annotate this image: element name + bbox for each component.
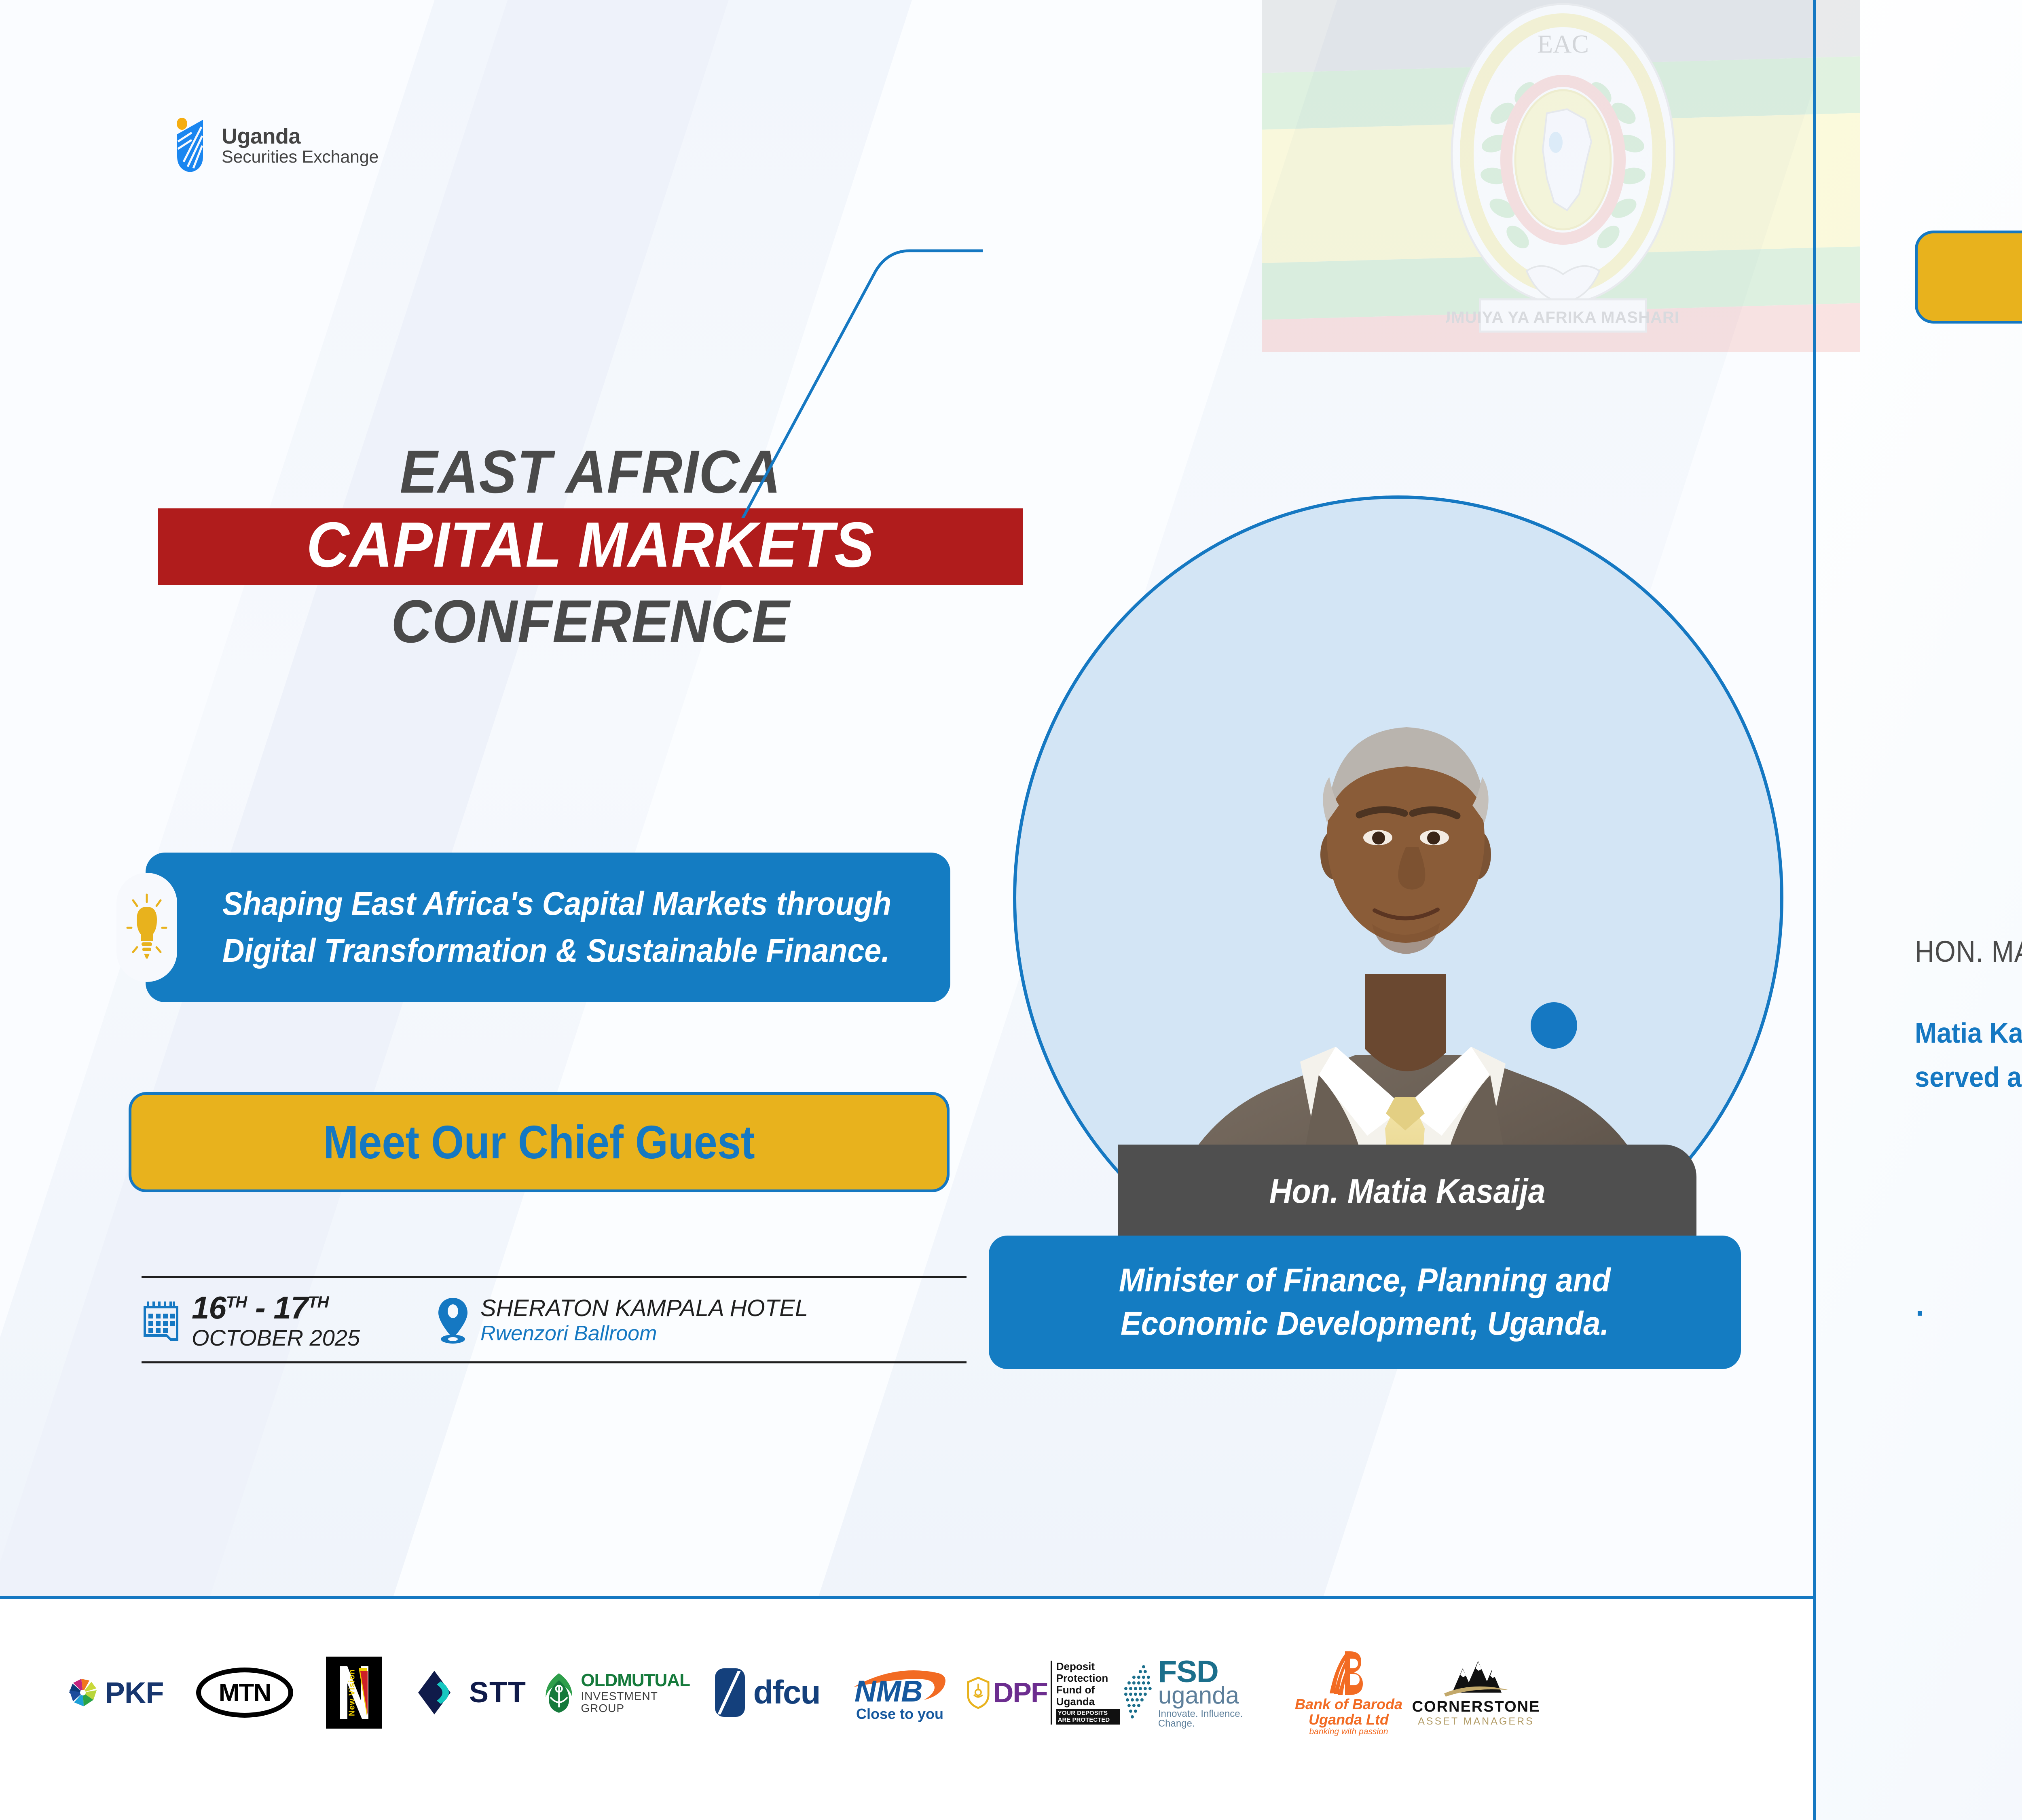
sponsor-logo-old-mutual: OLDMUTUAL INVESTMENT GROUP — [542, 1671, 700, 1714]
nmb-swoosh-icon: NMB — [847, 1663, 952, 1708]
sponsor-sublabel-2: YOUR DEPOSITS ARE PROTECTED — [1056, 1709, 1120, 1725]
chief-guest-role-line2: Economic Development, Uganda. — [1121, 1305, 1609, 1342]
sponsor-label: PKF — [105, 1676, 164, 1710]
sponsor-sublabel-2: banking with passion — [1295, 1727, 1402, 1736]
tagline-line-1: Shaping East Africa's Capital Markets th… — [222, 880, 891, 927]
sponsor-logo-nmb: NMB Close to you — [833, 1663, 967, 1723]
event-date: 16TH - 17TH OCTOBER 2025 — [142, 1290, 360, 1351]
sponsor-logo-dpf: DPF Deposit Protection Fund of Uganda YO… — [967, 1661, 1120, 1725]
event-tagline-banner: Shaping East Africa's Capital Markets th… — [146, 853, 950, 1002]
profile-bio-line2: served as the current Minister of Financ… — [1915, 1055, 2022, 1099]
sponsor-label: CORNERSTONE — [1412, 1698, 1540, 1716]
sponsor-logo-cornerstone: CORNERSTONE ASSET MANAGERS — [1415, 1658, 1537, 1727]
sponsor-logo-mtn: MTN — [182, 1668, 307, 1718]
sponsor-logo-row: PKF MTN New Vision STT — [49, 1626, 1767, 1759]
title-line-2: CAPITAL MARKETS — [158, 508, 1023, 585]
sponsor-label: New Vision — [348, 1669, 357, 1716]
venue-room: Rwenzori Ballroom — [480, 1322, 808, 1345]
lightbulb-icon — [126, 893, 168, 962]
sponsor-label: DPF — [993, 1676, 1047, 1709]
chief-guest-nameplate: Hon. Matia Kasaija — [1118, 1145, 1696, 1238]
baroda-b-icon — [1326, 1649, 1371, 1697]
sponsor-sublabel: INVESTMENT GROUP — [581, 1690, 700, 1714]
old-mutual-anchor-icon — [542, 1671, 576, 1714]
chief-guest-profile-header: Chief Guest's Profile — [1915, 231, 2022, 324]
chief-guest-role-line1: Minister of Finance, Planning and — [1119, 1262, 1611, 1299]
eac-emblem-watermark: EAC JUMUIYA YA AFRIKA MASHARIKI — [1262, 0, 1860, 352]
svg-text:EAC: EAC — [1537, 30, 1589, 58]
meta-rule-bottom — [142, 1361, 967, 1363]
sponsor-label: STT — [469, 1676, 527, 1709]
horizontal-divider — [0, 1596, 1814, 1599]
meet-chief-guest-label: Meet Our Chief Guest — [323, 1115, 755, 1169]
sponsor-sublabel-2: Innovate. Influence. Change. — [1158, 1709, 1282, 1729]
tagline-line-2: Digital Transformation & Sustainable Fin… — [222, 927, 891, 974]
pkf-pinwheel-icon — [67, 1677, 99, 1708]
event-meta: 16TH - 17TH OCTOBER 2025 SHERATON KAMPAL… — [142, 1276, 967, 1363]
date-day-start-suffix: TH — [226, 1293, 247, 1311]
sponsor-label: OLDMUTUAL — [581, 1671, 700, 1690]
stt-mark-icon — [416, 1668, 464, 1717]
svg-text:JUMUIYA YA AFRIKA MASHARIKI: JUMUIYA YA AFRIKA MASHARIKI — [1446, 309, 1680, 326]
sponsor-logo-stt: STT — [400, 1668, 542, 1717]
sponsor-sublabel: Deposit Protection Fund of Uganda — [1056, 1661, 1120, 1708]
sponsor-logo-fsd-uganda: FSD uganda Innovate. Influence. Change. — [1120, 1657, 1282, 1729]
sponsor-logo-dfcu: dfcu — [700, 1667, 833, 1718]
use-logo-line1: Uganda — [222, 125, 379, 148]
connector-node-dot — [1531, 1002, 1577, 1049]
uganda-securities-exchange-logo: Uganda Securities Exchange — [174, 117, 379, 174]
title-line-1: EAST AFRICA — [158, 441, 1023, 503]
eac-crest-icon: EAC JUMUIYA YA AFRIKA MASHARIKI — [1446, 0, 1680, 348]
fsd-dot-map-icon — [1120, 1663, 1154, 1723]
sponsor-sublabel: ASSET MANAGERS — [1418, 1716, 1534, 1727]
chief-guest-role-banner: Minister of Finance, Planning and Econom… — [989, 1236, 1741, 1369]
profile-name-heading: HON. MATIA KASAIJA — [1915, 934, 2022, 969]
use-logo-line2: Securities Exchange — [222, 148, 379, 166]
date-month-year: OCTOBER 2025 — [192, 1325, 360, 1351]
date-separator: - — [255, 1290, 265, 1325]
use-shield-icon — [174, 117, 209, 174]
lightbulb-badge — [116, 873, 177, 982]
sponsor-label: Bank of Baroda — [1295, 1697, 1402, 1712]
title-line-3: CONFERENCE — [158, 590, 1023, 652]
calendar-icon — [142, 1298, 180, 1343]
dpf-shield-icon — [967, 1666, 990, 1720]
cornerstone-mountains-icon — [1438, 1658, 1514, 1697]
profile-trailing-mark: . — [1916, 1288, 1924, 1323]
dfcu-mark-icon — [713, 1667, 747, 1718]
venue-name: SHERATON KAMPALA HOTEL — [480, 1295, 808, 1322]
sponsor-label: NMB — [854, 1674, 923, 1708]
profile-bio-line1: Matia Kasaija is a Ugandan politician an… — [1915, 1011, 2022, 1055]
sponsor-logo-new-vision: New Vision — [307, 1657, 400, 1729]
sponsor-label: MTN — [219, 1678, 271, 1707]
date-day-start: 16 — [192, 1290, 226, 1325]
sponsor-sublabel: Uganda Ltd — [1295, 1712, 1402, 1727]
date-day-end: 17 — [273, 1290, 308, 1325]
sponsor-logo-bank-of-baroda: Bank of Baroda Uganda Ltd banking with p… — [1282, 1649, 1415, 1736]
event-title: EAST AFRICA CAPITAL MARKETS CONFERENCE — [125, 441, 1055, 652]
sponsor-sublabel: uganda — [1158, 1683, 1282, 1708]
location-pin-icon — [437, 1296, 469, 1345]
sponsor-logo-pkf: PKF — [49, 1676, 182, 1710]
event-venue: SHERATON KAMPALA HOTEL Rwenzori Ballroom — [437, 1295, 808, 1345]
chief-guest-name: Hon. Matia Kasaija — [1269, 1172, 1546, 1211]
sponsor-label: dfcu — [753, 1674, 820, 1712]
vertical-divider — [1813, 0, 1816, 1820]
meet-chief-guest-button[interactable]: Meet Our Chief Guest — [129, 1092, 950, 1192]
profile-bio: Matia Kasaija is a Ugandan politician an… — [1915, 1011, 2022, 1099]
sponsor-sublabel: Close to you — [856, 1706, 943, 1723]
date-day-end-suffix: TH — [308, 1293, 328, 1311]
